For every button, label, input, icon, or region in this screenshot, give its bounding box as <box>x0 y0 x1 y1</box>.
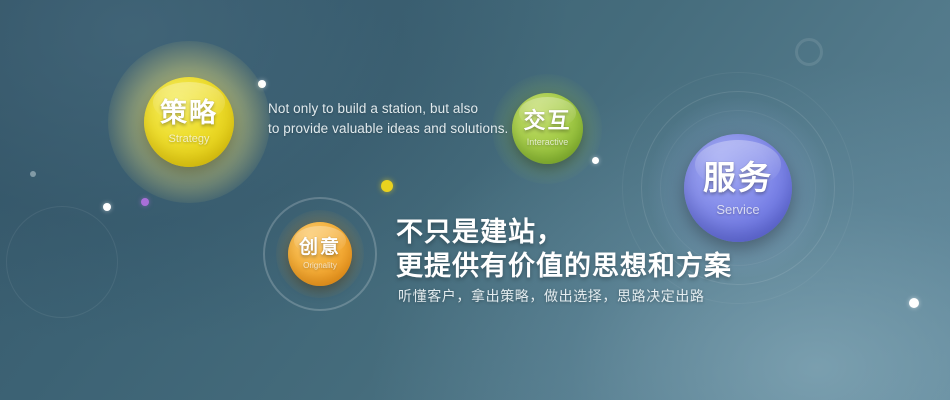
hero-banner: 策略 Strategy 交互 Interactive 创意 Orignality… <box>0 0 950 400</box>
decor-dot-white-upper <box>258 80 266 88</box>
headline-line-1: 不只是建站， <box>396 216 732 250</box>
bubble-interactive-cn-label: 交互 <box>523 110 571 132</box>
english-tagline-line-1: Not only to build a station, but also <box>268 99 503 119</box>
bubble-interactive-en-label: Interactive <box>527 138 569 147</box>
decor-dot-purple <box>141 198 149 206</box>
headline-line-2: 更提供有价值的思想和方案 <box>396 250 732 284</box>
decor-dot-yellow <box>381 180 393 192</box>
decor-dot-faint-left <box>30 171 36 177</box>
bubble-interactive[interactable]: 交互 Interactive <box>512 93 583 164</box>
bubble-service-en-label: Service <box>716 203 759 216</box>
bubble-originality-en-label: Orignality <box>303 262 337 270</box>
english-tagline-line-2: to provide valuable ideas and solutions. <box>268 119 503 139</box>
bubble-strategy-cn-label: 策略 <box>160 100 218 127</box>
decor-ring-left <box>6 206 118 318</box>
bubble-service-cn-label: 服务 <box>703 161 773 194</box>
bubble-originality-cn-label: 创意 <box>299 238 341 257</box>
subheadline: 听懂客户，拿出策略，做出选择，思路决定出路 <box>398 287 705 305</box>
bubble-originality[interactable]: 创意 Orignality <box>288 222 352 286</box>
decor-dot-white-left <box>103 203 111 211</box>
decor-dot-white-lower <box>909 298 919 308</box>
decor-ring-top-right <box>795 38 823 66</box>
decor-dot-white-mid <box>592 157 599 164</box>
bubble-strategy-en-label: Strategy <box>169 134 210 145</box>
bubble-strategy[interactable]: 策略 Strategy <box>144 77 234 167</box>
headline: 不只是建站， 更提供有价值的思想和方案 <box>396 216 732 284</box>
english-tagline: Not only to build a station, but also to… <box>268 99 503 140</box>
